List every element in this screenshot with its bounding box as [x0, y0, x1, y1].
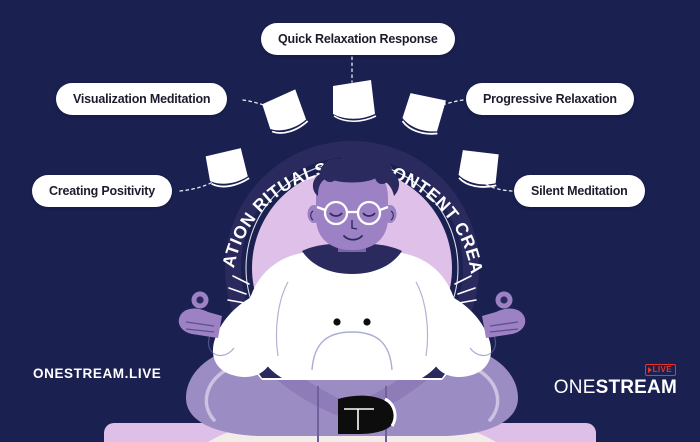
floating-paper-mid-left — [205, 148, 250, 190]
play-triangle-icon — [648, 367, 652, 373]
hair-curl-4 — [375, 170, 389, 184]
infographic-canvas: MEDITATION RITUALS FOR CONTENT CREATORS — [0, 0, 700, 442]
hair-curl-3 — [359, 161, 374, 176]
live-badge-label: LIVE — [653, 365, 672, 374]
live-badge: LIVE — [645, 364, 676, 376]
floating-paper-upper-right — [400, 89, 448, 137]
drawstring-left — [333, 318, 340, 325]
live-badge-row: LIVE — [554, 360, 677, 378]
hand-left-mudra — [179, 292, 222, 339]
logo-word-one: ONE — [554, 377, 596, 398]
drawstring-right — [363, 318, 370, 325]
logo-word-stream: STREAM — [596, 377, 677, 398]
arm-right — [432, 292, 491, 377]
label-creating-positivity[interactable]: Creating Positivity — [32, 175, 172, 207]
arm-left — [213, 292, 272, 377]
floating-paper-upper-left — [261, 89, 309, 137]
onestream-logo[interactable]: LIVE ONESTREAM — [554, 360, 677, 397]
hair-curl-2 — [340, 160, 356, 176]
label-silent-meditation[interactable]: Silent Meditation — [514, 175, 645, 207]
floating-paper-mid-right — [457, 148, 502, 190]
watermark-text: ONESTREAM.LIVE — [33, 366, 161, 381]
floating-paper-top — [333, 80, 376, 122]
hair-curl-1 — [323, 168, 337, 182]
label-quick-relaxation-response[interactable]: Quick Relaxation Response — [261, 23, 455, 55]
hand-right-mudra — [482, 292, 525, 339]
logo-wordmark: ONESTREAM — [554, 378, 677, 397]
label-progressive-relaxation[interactable]: Progressive Relaxation — [466, 83, 634, 115]
label-visualization-meditation[interactable]: Visualization Meditation — [56, 83, 227, 115]
